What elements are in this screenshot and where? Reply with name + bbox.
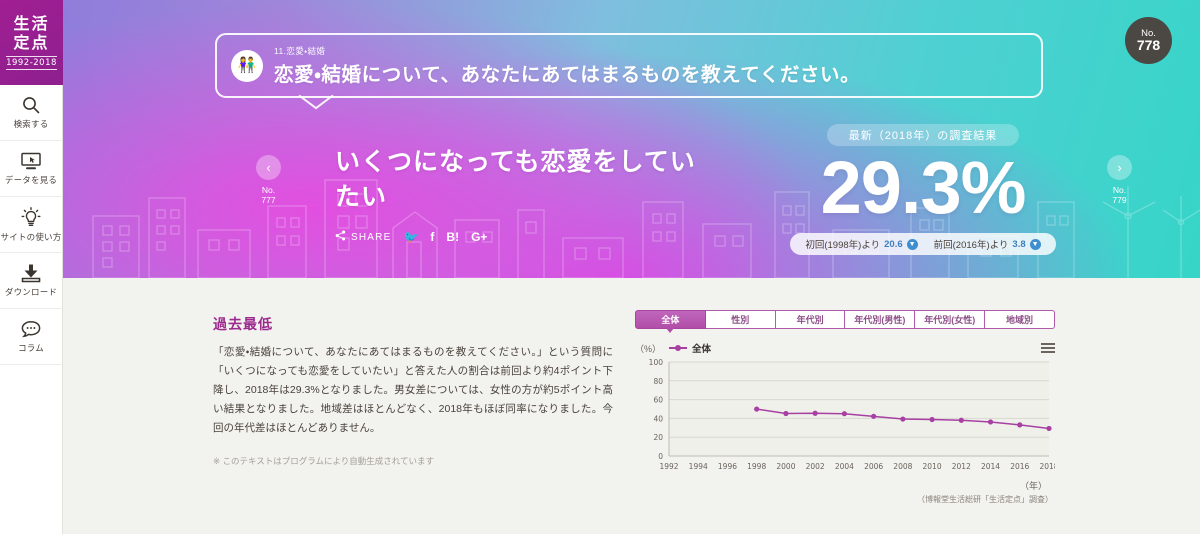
tab-overall[interactable]: 全体 [635,310,706,329]
badge-number: 778 [1137,38,1160,52]
svg-text:1994: 1994 [689,462,708,471]
compare-prev-value: 3.8 [1012,239,1025,250]
tab-gender[interactable]: 性別 [706,310,776,329]
share-label-group[interactable]: SHARE [335,230,391,244]
chart-header: （%） 全体 [635,341,1055,355]
compare-first: 初回(1998年)より 20.6 ▼ [805,237,917,251]
stat-compare-bar: 初回(1998年)より 20.6 ▼ 前回(2016年)より 3.8 ▼ [790,233,1055,255]
chart-svg: 0204060801001992199419961998200020022004… [635,358,1055,478]
svg-text:1996: 1996 [718,462,737,471]
question-number-badge: No. 778 [1125,17,1172,64]
svg-text:60: 60 [653,396,663,405]
sidebar-item-download[interactable]: ダウンロード [0,253,62,309]
sidebar-item-view-data[interactable]: データを見る [0,141,62,197]
svg-text:0: 0 [658,452,663,461]
monitor-icon [20,151,42,171]
svg-text:80: 80 [653,377,663,386]
chart-panel: 全体 性別 年代別 年代別(男性) 年代別(女性) 地域別 （%） 全体 020… [635,310,1055,505]
page-root: 生活 定点 1992-2018 検索する データを見る [0,0,1200,534]
prev-question-nav[interactable]: ‹ No. 777 [256,155,281,205]
compare-prev: 前回(2016年)より 3.8 ▼ [934,237,1041,251]
chevron-left-icon[interactable]: ‹ [256,155,281,180]
svg-text:1992: 1992 [659,462,678,471]
next-prefix: No. [1112,185,1126,195]
logo-line-2: 定点 [13,34,49,53]
arrow-down-icon: ▼ [907,239,918,250]
sidebar-label-download: ダウンロード [5,286,57,298]
couple-icon: 👫 [231,50,263,82]
sidebar-label-view-data: データを見る [5,174,57,186]
chart-tabs: 全体 性別 年代別 年代別(男性) 年代別(女性) 地域別 [635,310,1055,329]
svg-text:100: 100 [649,358,664,367]
svg-text:2016: 2016 [1010,462,1029,471]
sidebar-item-search[interactable]: 検索する [0,85,62,141]
line-chart[interactable]: 0204060801001992199419961998200020022004… [635,358,1055,478]
svg-text:2002: 2002 [806,462,825,471]
answer-text: いくつになっても恋愛をしていたい [335,145,717,215]
hamburger-menu-icon[interactable] [1041,343,1055,353]
svg-text:2004: 2004 [835,462,854,471]
sidebar-label-column: コラム [18,342,44,354]
tab-age-male[interactable]: 年代別(男性) [845,310,915,329]
tab-region[interactable]: 地域別 [985,310,1055,329]
sidebar-item-how-to-use[interactable]: サイトの使い方 [0,197,62,253]
download-icon [20,263,42,283]
sidebar-item-column[interactable]: コラム [0,309,62,365]
next-question-number: No. 779 [1112,185,1126,205]
prev-question-number: No. 777 [261,185,275,205]
sidebar-label-search: 検索する [14,118,49,130]
share-icon [335,230,346,244]
share-row: SHARE 🐦 f B! G+ [335,230,487,244]
site-logo[interactable]: 生活 定点 1992-2018 [0,0,63,85]
summary-text-column: 過去最低 「恋愛・結婚について、あなたにあてはまるものを教えてください。」という… [213,314,613,467]
content-area: 過去最低 「恋愛・結婚について、あなたにあてはまるものを教えてください。」という… [63,278,1200,534]
compare-prev-label: 前回(2016年)より [934,237,1009,251]
svg-text:20: 20 [653,433,663,442]
facebook-icon[interactable]: f [430,231,434,243]
lightbulb-icon [21,207,41,228]
summary-body: 「恋愛・結婚について、あなたにあてはまるものを教えてください。」という質問に「い… [213,343,613,438]
chart-source: （博報堂生活総研「生活定点」調査） [635,494,1055,505]
svg-text:40: 40 [653,414,663,423]
svg-text:1998: 1998 [747,462,766,471]
question-title: 恋愛・結婚について、あなたにあてはまるものを教えてください。 [274,58,860,87]
chart-legend[interactable]: 全体 [669,341,711,355]
svg-text:2012: 2012 [952,462,971,471]
y-axis-unit: （%） [635,342,665,355]
compare-first-label: 初回(1998年)より [805,237,880,251]
sidebar-label-how-to-use: サイトの使い方 [1,231,62,243]
legend-marker-icon [669,347,687,349]
tab-age-female[interactable]: 年代別(女性) [915,310,985,329]
chevron-right-icon[interactable]: › [1107,155,1132,180]
question-category: 11.恋愛・結婚 [274,45,860,57]
svg-text:2018: 2018 [1039,462,1055,471]
svg-text:2014: 2014 [981,462,1000,471]
svg-text:2008: 2008 [893,462,912,471]
summary-heading: 過去最低 [213,314,613,334]
stat-value: 29.3% [753,148,1093,228]
search-icon [21,95,41,115]
hero-banner: No. 778 👫 11.恋愛・結婚 恋愛・結婚について、あなたにあてはまるもの… [63,0,1200,278]
stat-block: 最新（2018年）の調査結果 29.3% 初回(1998年)より 20.6 ▼ … [753,124,1093,255]
googleplus-icon[interactable]: G+ [471,231,487,243]
stat-pill-label: 最新（2018年）の調査結果 [827,124,1019,146]
hatena-icon[interactable]: B! [446,231,459,243]
share-label: SHARE [351,232,391,243]
compare-first-value: 20.6 [884,239,903,250]
prev-number: 777 [261,195,275,205]
svg-text:2000: 2000 [776,462,795,471]
prev-prefix: No. [261,185,275,195]
tab-age[interactable]: 年代別 [776,310,846,329]
next-number: 779 [1112,195,1126,205]
logo-years: 1992-2018 [6,56,57,70]
arrow-down-icon: ▼ [1030,239,1041,250]
legend-label: 全体 [692,341,711,355]
x-axis-unit: （年） [635,479,1055,492]
svg-text:2006: 2006 [864,462,883,471]
svg-text:2010: 2010 [923,462,942,471]
summary-note: ※ このテキストはプログラムにより自動生成されています [213,455,613,467]
sidebar: 生活 定点 1992-2018 検索する データを見る [0,0,63,534]
comment-icon [20,319,42,339]
next-question-nav[interactable]: › No. 779 [1107,155,1132,205]
question-bubble: 👫 11.恋愛・結婚 恋愛・結婚について、あなたにあてはまるものを教えてください… [215,33,1043,98]
logo-line-1: 生活 [13,15,49,34]
twitter-icon[interactable]: 🐦 [403,231,418,243]
